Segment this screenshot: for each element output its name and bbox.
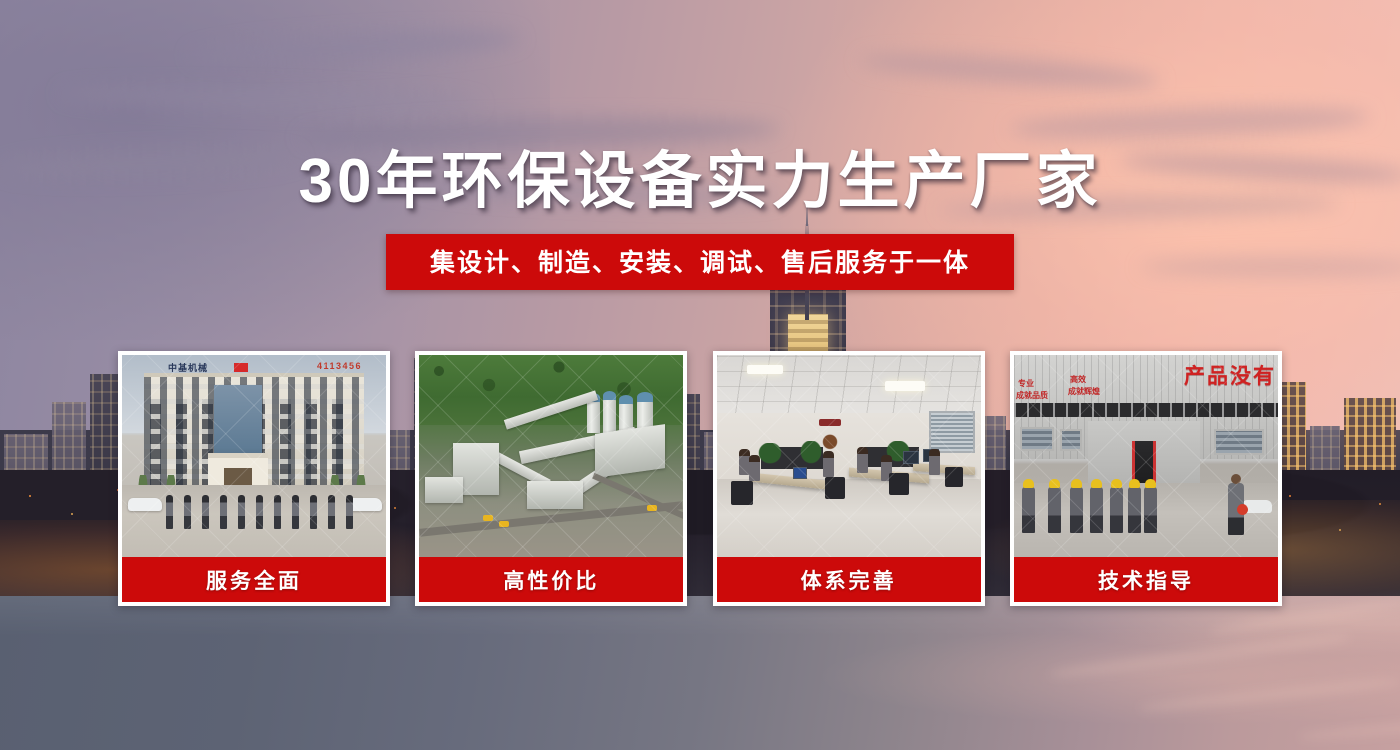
- page-title: 30年环保设备实力生产厂家: [0, 130, 1400, 220]
- feature-card-label: 高性价比: [419, 557, 683, 602]
- feature-card-label: 体系完善: [717, 557, 981, 602]
- hero-banner: 30年环保设备实力生产厂家 集设计、制造、安装、调试、售后服务于一体 中基机械 …: [0, 0, 1400, 750]
- company-headquarters-photo: 中基机械 4113456: [122, 355, 386, 557]
- feature-card[interactable]: 高性价比: [415, 351, 687, 606]
- subtitle-ribbon: 集设计、制造、安装、调试、售后服务于一体: [386, 234, 1014, 290]
- workshop-technical-training-photo: 产品没有 专业 成就品质 高效 成就辉煌: [1014, 355, 1278, 557]
- water-reflection: [0, 596, 1400, 750]
- photo-slogan-3: 高效: [1070, 375, 1086, 384]
- photo-slogan-2: 成就品质: [1016, 391, 1048, 400]
- photo-factory-banner-text: 产品没有: [1184, 360, 1276, 390]
- office-workspace-photo: [717, 355, 981, 557]
- feature-card-label: 服务全面: [122, 557, 386, 602]
- aerial-production-plant-photo: [419, 355, 683, 557]
- feature-card-label: 技术指导: [1014, 557, 1278, 602]
- photo-phone-text: 4113456: [317, 361, 362, 371]
- feature-card[interactable]: 中基机械 4113456: [118, 351, 390, 606]
- feature-card[interactable]: 体系完善: [713, 351, 985, 606]
- feature-card-list: 中基机械 4113456: [118, 351, 1282, 606]
- photo-sign-text: 中基机械: [168, 361, 208, 374]
- photo-slogan-4: 成就辉煌: [1068, 387, 1100, 396]
- feature-card[interactable]: 产品没有 专业 成就品质 高效 成就辉煌: [1010, 351, 1282, 606]
- photo-slogan-1: 专业: [1018, 379, 1034, 388]
